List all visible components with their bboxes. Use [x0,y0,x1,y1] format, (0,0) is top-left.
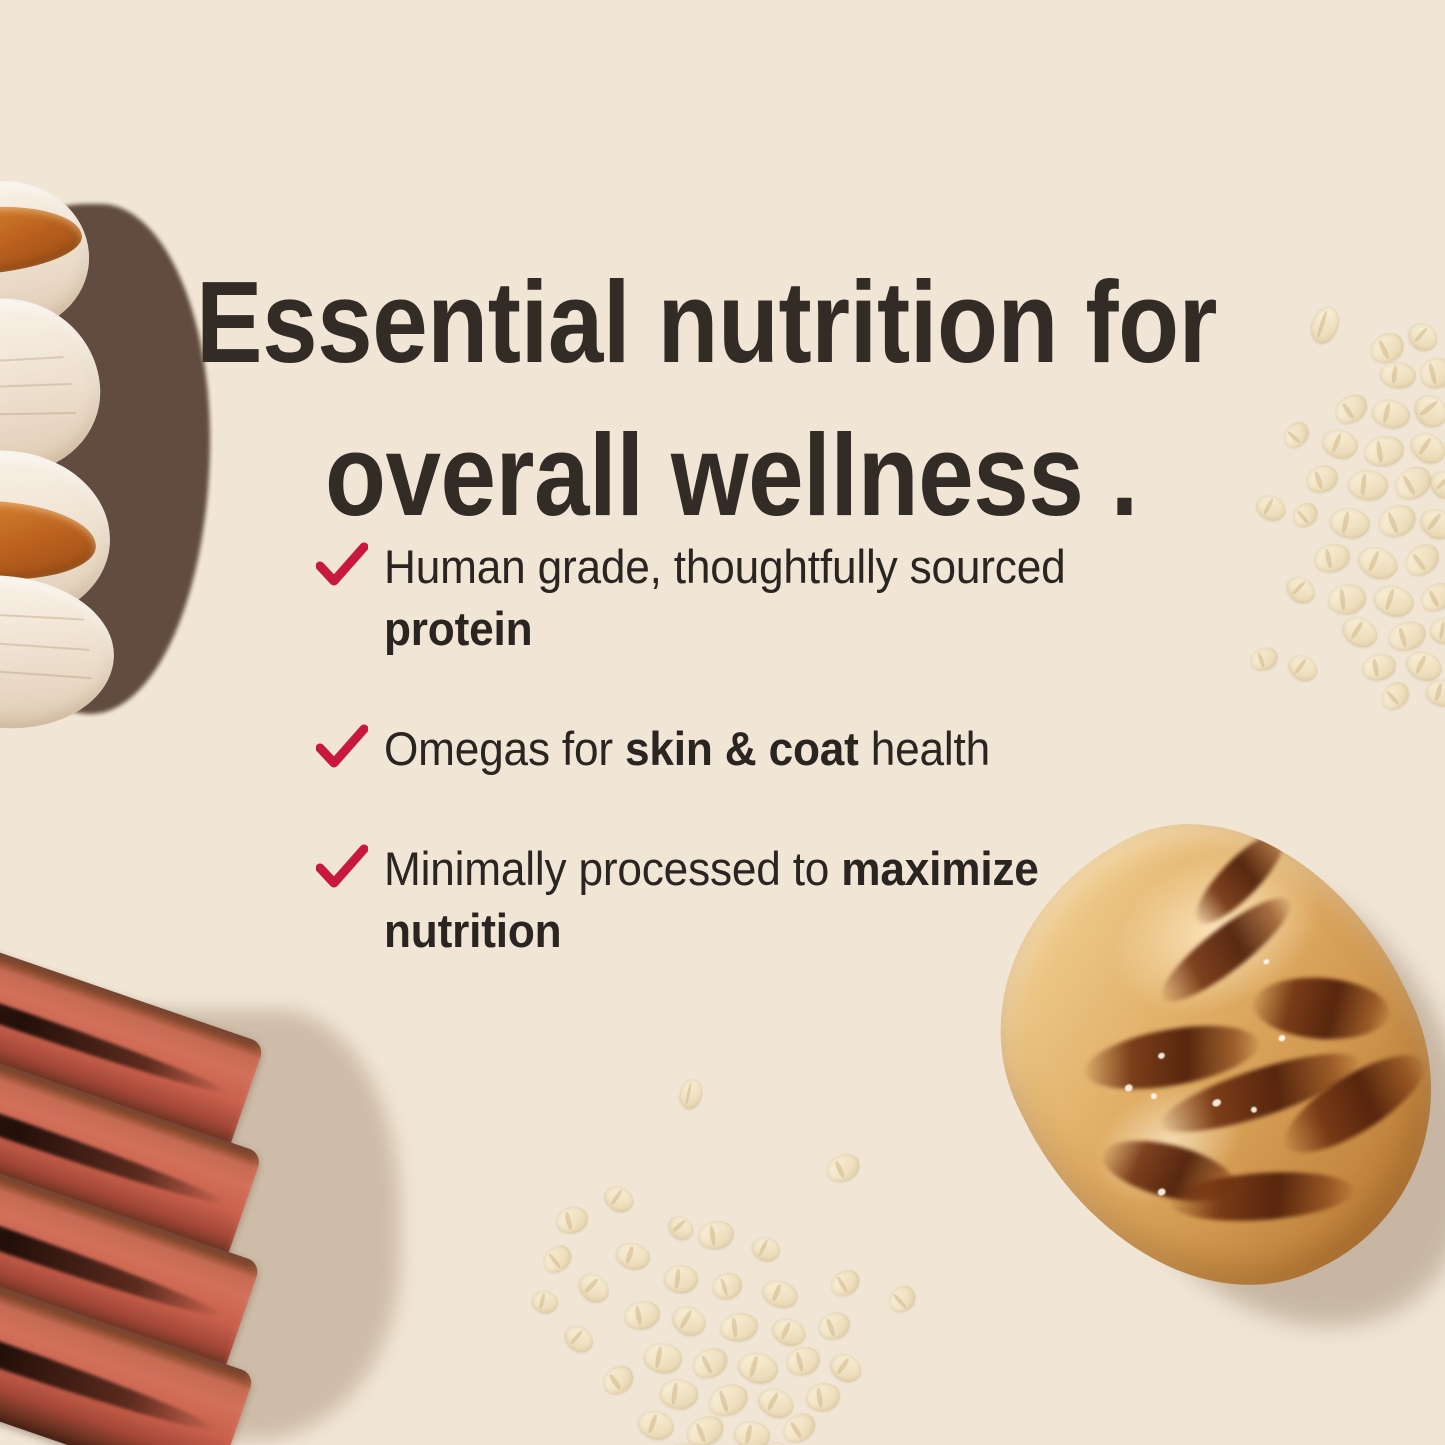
benefit-trail-text: health [859,722,990,775]
oat-flake [1330,389,1373,430]
char-mark [1251,973,1391,1043]
oat-flake [1385,617,1429,654]
oat-flake [1284,649,1322,686]
oat-flake [597,1360,638,1399]
list-item: Human grade, thoughtfully sourced protei… [316,536,1176,660]
oat-flake [1360,651,1398,683]
oat-flake [682,1411,728,1445]
oat-flake [704,1380,751,1421]
oat-flake [735,1348,782,1388]
oat-flake [1327,582,1368,616]
oat-flake [600,1181,638,1218]
oat-flake [553,1204,590,1237]
oat-flake [1288,498,1322,532]
rolled-oats-cluster [1230,300,1445,710]
oat-flake [1415,503,1445,546]
list-item-label: Omegas for skin & coat health [384,718,1128,780]
sliced-beef-steak-photo [0,960,440,1445]
oat-flake [1282,571,1320,609]
oat-flake [731,1418,772,1445]
oat-flake [825,1348,866,1388]
oat-flake [667,1300,710,1341]
oat-flake [642,1340,685,1376]
oat-flake [1362,433,1406,468]
gloss-highlight [1150,1092,1158,1100]
oat-flake [664,1211,698,1245]
page-title: Essential nutrition for overall wellness… [196,246,1142,552]
oat-flake [815,1308,854,1343]
oat-flake [1428,616,1445,647]
oat-flake [1318,424,1362,463]
oat-flake [719,1311,760,1343]
roasted-chicken-breast-photo [980,800,1445,1370]
list-item: Omegas for skin & coat health [316,718,1176,780]
headline-line-1: Essential nutrition for [196,246,1142,399]
benefit-lead-text: Human grade, thoughtfully sourced [384,540,1065,593]
oat-flake [1307,303,1343,347]
oat-flake [822,1149,864,1187]
check-icon [316,542,368,588]
oat-flake [573,1268,614,1309]
oat-flake [1416,578,1445,617]
list-item-label: Human grade, thoughtfully sourced protei… [384,536,1128,660]
oat-flake [783,1343,823,1378]
oat-flake [1327,504,1372,542]
headline-line-2: overall wellness . [325,399,1142,552]
scattered-oats-cluster [520,1075,940,1445]
benefit-emphasis-text: protein [384,602,532,655]
gloss-highlight [1278,1034,1287,1042]
oat-flake [622,1298,662,1332]
oat-flake [1399,538,1445,582]
oat-flake [1311,541,1352,576]
oat-flake [1303,462,1341,497]
oat-flake [758,1275,801,1313]
oat-flake [560,1320,598,1358]
oat-flake [634,1406,677,1445]
oat-flake [1354,541,1403,585]
oat-flake [884,1281,921,1318]
oat-flake [688,1343,733,1384]
oat-flake [1252,490,1290,525]
oat-flake [538,1240,576,1277]
oat-flake [696,1219,736,1252]
oat-flake [1378,360,1417,391]
oat-flake [1417,355,1445,392]
oat-flake [1278,417,1313,453]
benefit-lead-text: Minimally processed to [384,842,841,895]
marketing-banner: Essential nutrition for overall wellness… [0,0,1445,1445]
oat-flake [658,1377,700,1412]
oat-flake [826,1265,864,1301]
oat-flake [1337,611,1382,654]
oat-flake [1403,317,1443,356]
oat-flake [1247,644,1281,674]
oat-flake [1405,426,1445,469]
oat-flake [663,1263,700,1294]
oat-flake [709,1269,746,1303]
benefit-emphasis-text: skin & coat [625,722,859,775]
oat-flake [768,1313,810,1351]
check-icon [316,724,368,770]
oat-flake [530,1288,561,1316]
oat-flake [804,1381,842,1413]
oat-flake [677,1077,705,1111]
benefit-lead-text: Omegas for [384,722,625,775]
oat-flake [1370,581,1417,622]
oat-flake [1347,468,1390,502]
oat-flake [1376,677,1414,715]
check-icon [316,844,368,890]
oat-flake [1409,388,1445,433]
oat-flake [1374,500,1420,542]
oat-flake [748,1232,784,1266]
gloss-highlight [1263,958,1271,965]
oat-flake [613,1238,653,1273]
oat-flake [1369,396,1413,432]
